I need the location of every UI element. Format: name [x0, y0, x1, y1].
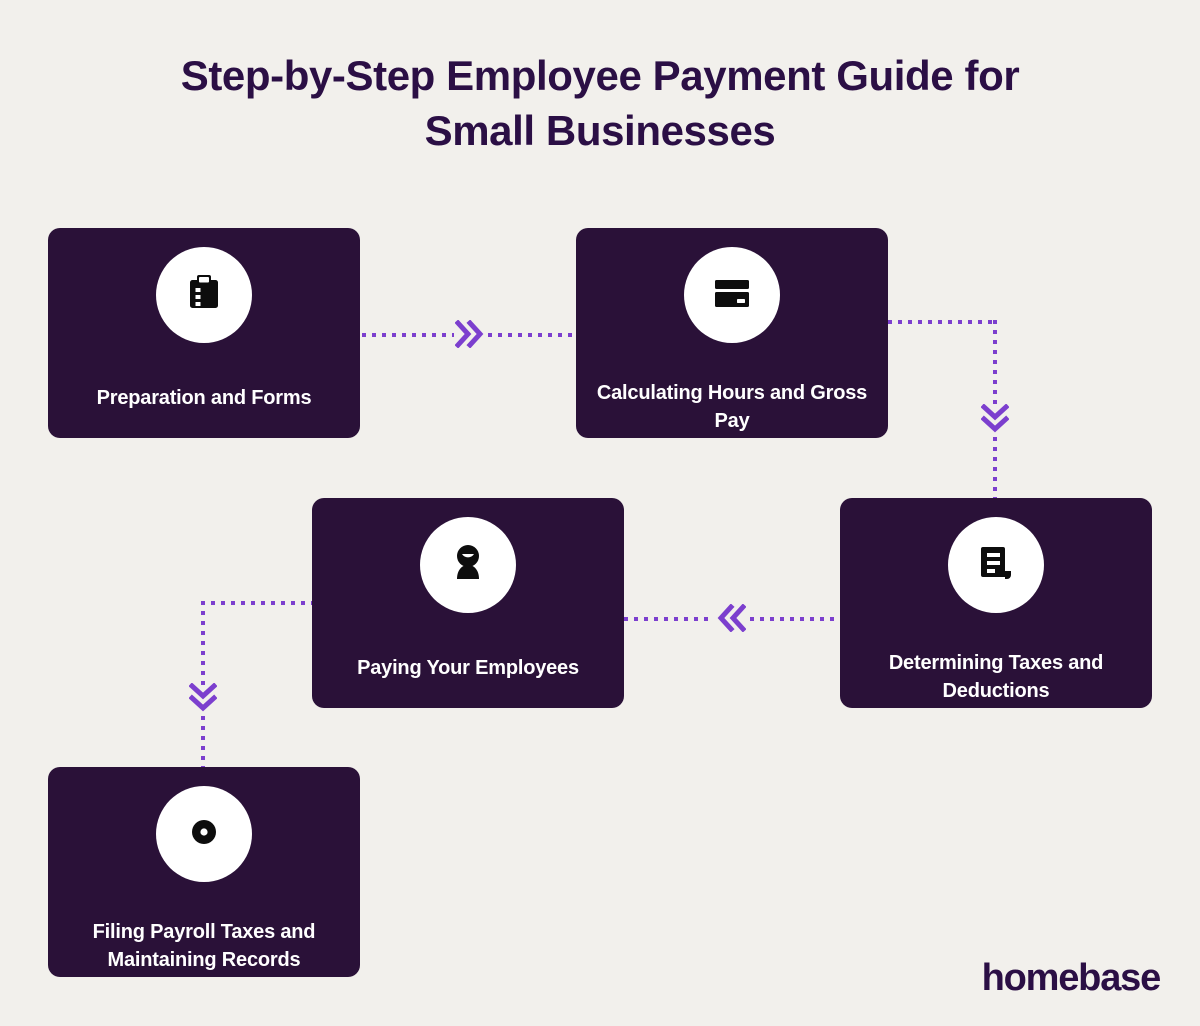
page-title: Step-by-Step Employee Payment Guide for …	[0, 48, 1200, 158]
double-chevron-down-icon	[189, 683, 217, 713]
connector-3-5-segment-vertical-upper	[201, 601, 205, 685]
record-disc-icon	[182, 810, 226, 859]
step-card-label: Calculating Hours and Gross Pay	[576, 379, 888, 435]
connector-2-4-segment-vertical-upper	[993, 320, 997, 405]
step-icon-badge	[948, 517, 1044, 613]
step-card-label: Filing Payroll Taxes and Maintaining Rec…	[48, 918, 360, 974]
connector-2-4-segment-horizontal	[888, 320, 997, 324]
step-card-filing-payroll-taxes-and-maintaining-records[interactable]: Filing Payroll Taxes and Maintaining Rec…	[48, 767, 360, 977]
connector-3-5-segment-vertical-lower	[201, 716, 205, 768]
clipboard-list-icon	[182, 271, 226, 320]
step-icon-badge	[156, 247, 252, 343]
double-chevron-left-icon	[716, 604, 746, 632]
step-card-paying-your-employees[interactable]: Paying Your Employees	[312, 498, 624, 708]
credit-card-icon	[710, 271, 754, 320]
connector-3-5-segment-horizontal	[201, 601, 312, 605]
connector-4-3-segment-left	[624, 617, 714, 621]
step-card-label: Determining Taxes and Deductions	[840, 649, 1152, 705]
page-title-line-2: Small Businesses	[0, 103, 1200, 158]
connector-4-3-segment-right	[750, 617, 840, 621]
infographic-canvas: Step-by-Step Employee Payment Guide for …	[0, 0, 1200, 1026]
page-title-line-1: Step-by-Step Employee Payment Guide for	[0, 48, 1200, 103]
step-card-label: Preparation and Forms	[48, 384, 360, 412]
double-chevron-down-icon	[981, 404, 1009, 434]
connector-1-2-segment-left	[362, 333, 454, 337]
step-icon-badge	[156, 786, 252, 882]
homebase-logo: homebase	[982, 957, 1160, 1000]
step-icon-badge	[420, 517, 516, 613]
double-chevron-right-icon	[455, 320, 485, 348]
step-card-label: Paying Your Employees	[312, 654, 624, 682]
step-card-preparation-and-forms[interactable]: Preparation and Forms	[48, 228, 360, 438]
step-card-determining-taxes-and-deductions[interactable]: Determining Taxes and Deductions	[840, 498, 1152, 708]
step-card-calculating-hours-and-gross-pay[interactable]: Calculating Hours and Gross Pay	[576, 228, 888, 438]
person-icon	[446, 541, 490, 590]
step-icon-badge	[684, 247, 780, 343]
connector-1-2-segment-right	[488, 333, 576, 337]
connector-2-4-segment-vertical-lower	[993, 437, 997, 499]
document-lines-icon	[974, 541, 1018, 590]
